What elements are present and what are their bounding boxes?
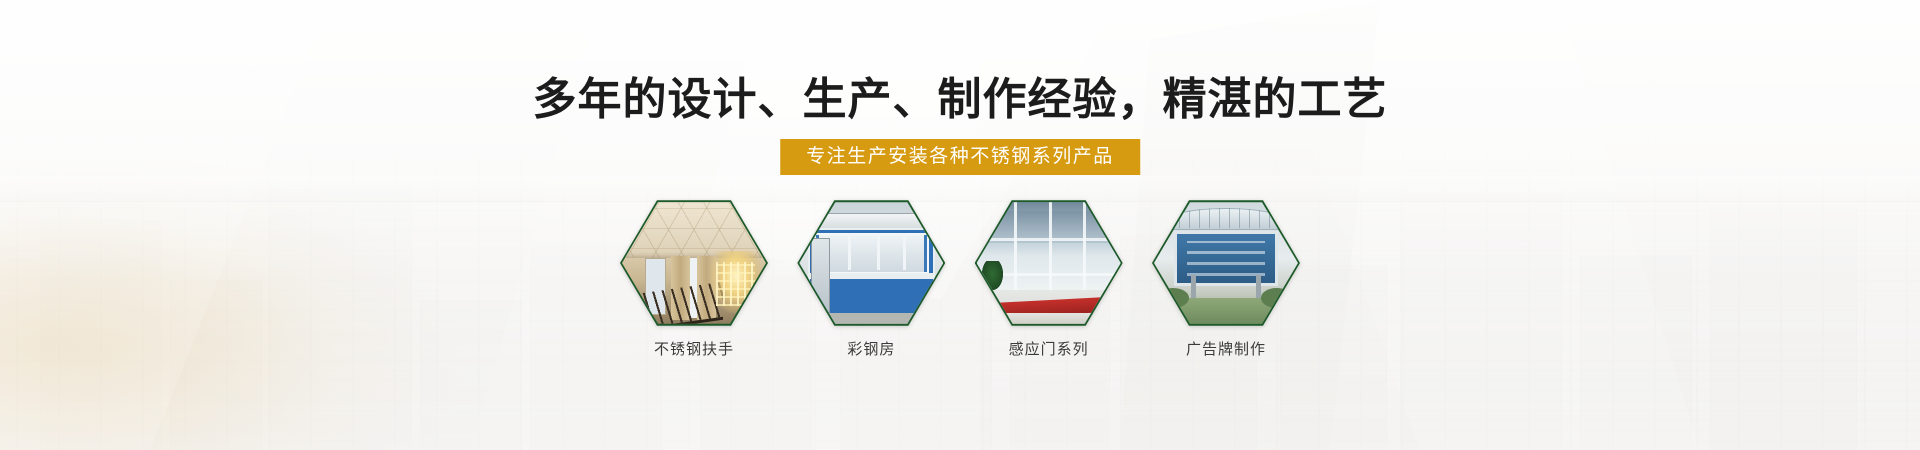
banner-content: 多年的设计、生产、制作经验，精湛的工艺 专注生产安装各种不锈钢系列产品 xyxy=(0,0,1920,450)
product-card-handrail[interactable]: 不锈钢扶手 xyxy=(620,199,768,360)
hexagon-thumbnail-steel-cabin[interactable] xyxy=(797,199,945,327)
status-badge: 专注生产安装各种不锈钢系列产品 xyxy=(780,139,1140,175)
product-card-label: 不锈钢扶手 xyxy=(654,340,734,360)
sensor-door-photo xyxy=(977,201,1121,325)
product-card-steel-cabin[interactable]: 彩钢房 xyxy=(797,199,945,360)
product-card-billboard[interactable]: 广告牌制作 xyxy=(1152,199,1300,360)
product-card-list: 不锈钢扶手 xyxy=(620,199,1300,360)
promo-banner: 多年的设计、生产、制作经验，精湛的工艺 专注生产安装各种不锈钢系列产品 xyxy=(0,0,1920,450)
product-card-label: 彩钢房 xyxy=(847,340,895,360)
hexagon-thumbnail-billboard[interactable] xyxy=(1152,199,1300,327)
hexagon-thumbnail-handrail[interactable] xyxy=(620,199,768,327)
product-card-label: 感应门系列 xyxy=(1009,340,1089,360)
billboard-photo xyxy=(1154,201,1298,325)
product-card-label: 广告牌制作 xyxy=(1186,340,1266,360)
page-title: 多年的设计、生产、制作经验，精湛的工艺 xyxy=(0,73,1920,127)
hexagon-thumbnail-sensor-door[interactable] xyxy=(975,199,1123,327)
handrail-photo xyxy=(622,201,766,325)
steel-cabin-photo xyxy=(799,201,943,325)
product-card-sensor-door[interactable]: 感应门系列 xyxy=(975,199,1123,360)
